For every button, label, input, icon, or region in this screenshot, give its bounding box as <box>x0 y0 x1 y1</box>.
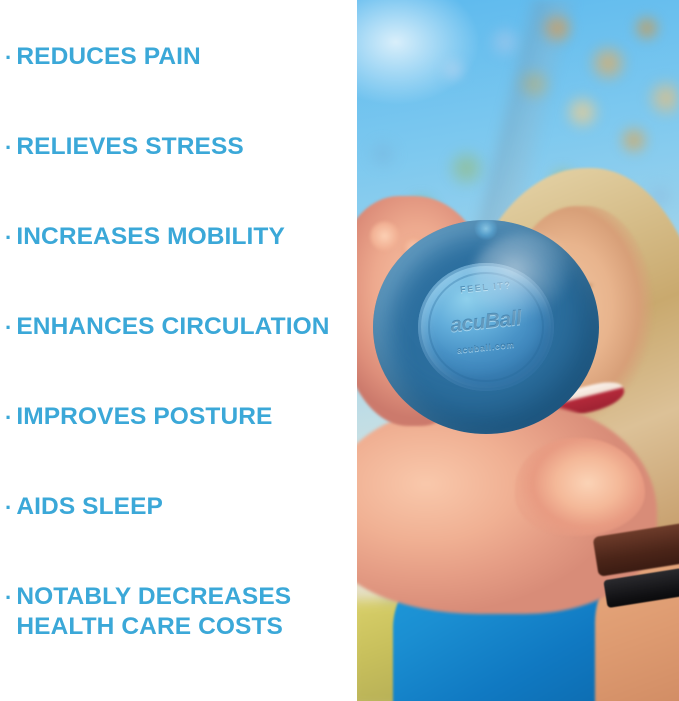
bullet-icon: · <box>5 41 16 75</box>
bullet-icon: · <box>5 491 16 525</box>
ball-website-text: acuball.com <box>418 335 554 359</box>
benefit-label: NOTABLY DECREASES HEALTH CARE COSTS <box>16 582 357 642</box>
bullet-icon: · <box>5 221 16 255</box>
list-item: · RELIEVES STRESS <box>0 132 357 222</box>
bullet-icon: · <box>5 581 16 615</box>
promo-graphic: · REDUCES PAIN · RELIEVES STRESS · INCRE… <box>0 0 679 701</box>
massage-ball: FEEL IT? acuBall acuball.com <box>373 220 599 434</box>
bullet-icon: · <box>5 401 16 435</box>
benefit-label: AIDS SLEEP <box>16 492 357 522</box>
benefit-label: RELIEVES STRESS <box>16 132 357 162</box>
benefits-list: · REDUCES PAIN · RELIEVES STRESS · INCRE… <box>0 42 357 672</box>
product-photo: FEEL IT? acuBall acuball.com <box>357 0 679 701</box>
bullet-icon: · <box>5 131 16 165</box>
ball-brand-text: acuBall <box>418 303 554 341</box>
list-item: · INCREASES MOBILITY <box>0 222 357 312</box>
ball-emboss-disc: FEEL IT? acuBall acuball.com <box>418 263 554 391</box>
benefit-label: ENHANCES CIRCULATION <box>16 312 357 342</box>
benefit-label: IMPROVES POSTURE <box>16 402 357 432</box>
list-item: · REDUCES PAIN <box>0 42 357 132</box>
bullet-icon: · <box>5 311 16 345</box>
benefit-label: REDUCES PAIN <box>16 42 357 72</box>
list-item: · NOTABLY DECREASES HEALTH CARE COSTS <box>0 582 357 672</box>
benefits-panel: · REDUCES PAIN · RELIEVES STRESS · INCRE… <box>0 0 357 701</box>
list-item: · ENHANCES CIRCULATION <box>0 312 357 402</box>
benefit-label: INCREASES MOBILITY <box>16 222 357 252</box>
list-item: · IMPROVES POSTURE <box>0 402 357 492</box>
list-item: · AIDS SLEEP <box>0 492 357 582</box>
